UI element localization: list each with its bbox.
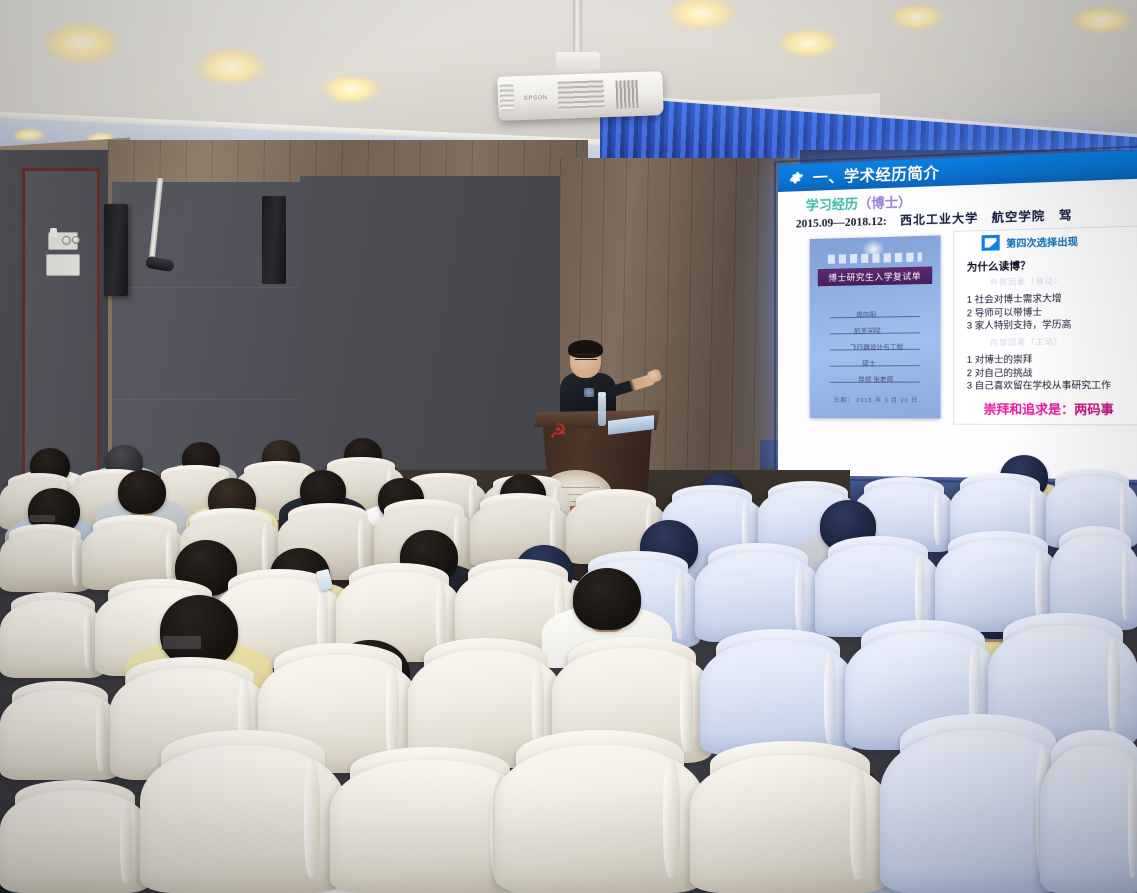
auditorium-chair[interactable] xyxy=(0,790,150,893)
auditorium-photo: EPSON 一、学术经历简介 学习经历（博士） 20 xyxy=(0,0,1137,893)
auditorium-chair[interactable] xyxy=(690,755,890,893)
audience-row xyxy=(0,0,1137,893)
auditorium-chair[interactable] xyxy=(495,745,705,893)
auditorium-chair[interactable] xyxy=(140,745,345,893)
auditorium-chair[interactable] xyxy=(1040,745,1137,893)
